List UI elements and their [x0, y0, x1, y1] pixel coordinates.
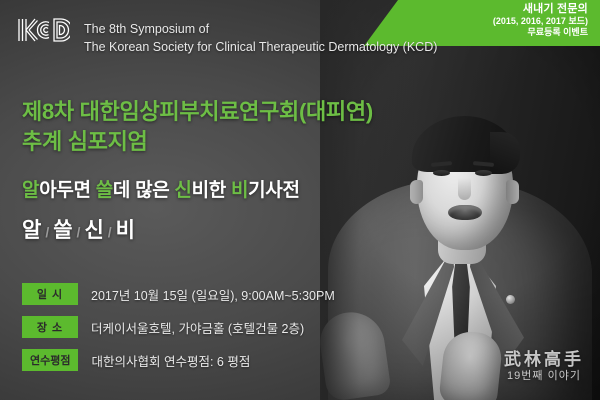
subtitle-seg-2: 아두면	[39, 180, 96, 201]
subtitle-seg-8: 기사전	[248, 180, 300, 201]
info-label-credits: 연수평점	[22, 349, 78, 371]
initial-separator-2: /	[74, 224, 85, 240]
initial-2: 쓸	[53, 219, 73, 242]
english-header-line-1: The 8th Symposium of	[84, 20, 437, 38]
info-value-datetime: 2017년 10월 15일 (일요일), 9:00AM~5:30PM	[91, 285, 335, 304]
subtitle: 알아두면 쓸데 많은 신비한 비기사전	[22, 181, 300, 200]
subtitle-seg-7: 비	[231, 180, 248, 201]
watermark-line-1: 武林高手	[504, 349, 584, 370]
subtitle-seg-6: 비한	[192, 180, 231, 201]
initial-3: 신	[84, 219, 104, 242]
info-row-credits: 연수평점 대한의사협회 연수평점: 6 평점	[22, 349, 335, 371]
initial-4: 비	[116, 219, 136, 242]
info-label-venue: 장 소	[22, 316, 78, 338]
subtitle-seg-3: 쓸	[96, 180, 113, 201]
kcd-logo-icon	[16, 15, 70, 45]
english-header: The 8th Symposium of The Korean Society …	[84, 20, 437, 56]
subtitle-seg-1: 알	[22, 180, 39, 201]
info-value-credits: 대한의사협회 연수평점: 6 평점	[91, 351, 250, 370]
subtitle-seg-4: 데 많은	[113, 180, 175, 201]
subtitle-initials: 알/쓸/신/비	[22, 214, 136, 244]
page-title: 제8차 대한임상피부치료연구회(대피연) 추계 심포지엄	[22, 97, 373, 158]
info-value-venue: 더케이서울호텔, 가야금홀 (호텔건물 2층)	[91, 318, 304, 337]
initial-separator-3: /	[105, 224, 116, 240]
english-header-line-2: The Korean Society for Clinical Therapeu…	[84, 38, 437, 56]
speaker-photo	[320, 0, 600, 400]
watermark: 武林高手 19번째 이야기	[504, 349, 584, 384]
initial-1: 알	[22, 219, 42, 242]
info-row-venue: 장 소 더케이서울호텔, 가야금홀 (호텔건물 2층)	[22, 316, 335, 338]
subtitle-seg-5: 신	[174, 180, 191, 201]
photo-vignette	[320, 0, 600, 400]
title-line-1: 제8차 대한임상피부치료연구회(대피연)	[22, 97, 373, 127]
event-info-list: 일 시 2017년 10월 15일 (일요일), 9:00AM~5:30PM 장…	[22, 283, 335, 382]
promo-line-1: 새내기 전문의	[364, 3, 588, 16]
info-row-datetime: 일 시 2017년 10월 15일 (일요일), 9:00AM~5:30PM	[22, 283, 335, 305]
symposium-poster: 새내기 전문의 (2015, 2016, 2017 보드) 무료등록 이벤트 T…	[0, 0, 600, 400]
watermark-line-2: 19번째 이야기	[504, 370, 584, 384]
initial-separator-1: /	[42, 224, 53, 240]
info-label-datetime: 일 시	[22, 283, 78, 305]
title-line-2: 추계 심포지엄	[22, 127, 373, 157]
